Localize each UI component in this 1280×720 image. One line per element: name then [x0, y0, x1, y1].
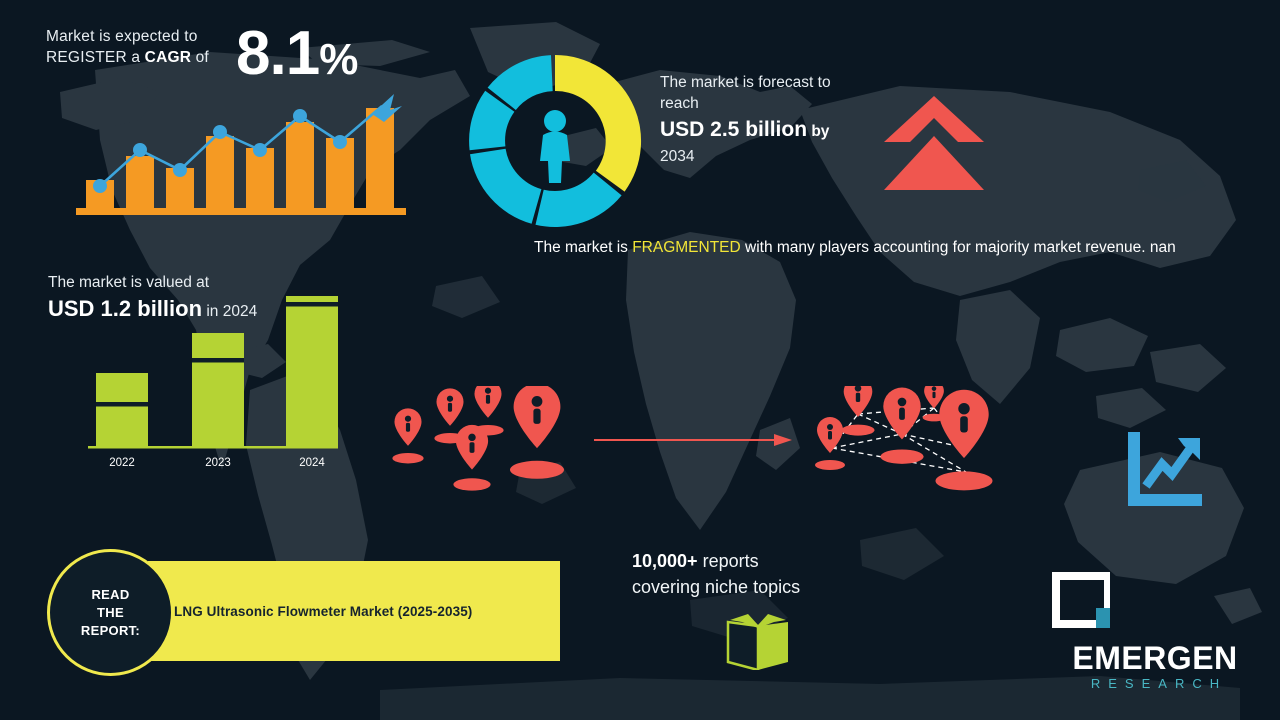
person-icon	[540, 110, 570, 183]
cagr-of-text: of	[191, 49, 209, 66]
logo-subtitle: RESEARCH	[1050, 675, 1260, 693]
fragmented-pre: The market is	[534, 239, 632, 256]
green-chart-baseline	[88, 446, 338, 449]
chart-baseline	[76, 208, 406, 215]
bar-2023	[192, 333, 244, 446]
fragmented-note: The market is FRAGMENTED with many playe…	[534, 236, 1206, 260]
xtick-2024: 2024	[299, 457, 325, 469]
read-report-line1: READ	[81, 586, 140, 604]
bar-2024	[286, 296, 338, 446]
open-book-icon	[722, 612, 794, 670]
bar-2023-divider	[192, 358, 244, 363]
bar-2024-divider	[286, 302, 338, 307]
reports-count-block: 10,000+ reports covering niche topics	[632, 548, 932, 600]
double-chevron-up-icon	[884, 96, 984, 190]
growth-chart-icon	[1122, 428, 1204, 510]
market-share-donut-chart	[466, 52, 644, 230]
forecast-line2: reach	[660, 93, 895, 114]
market-value-bar-chart: 2022 2023 2024	[80, 296, 345, 471]
cagr-caption-line1: Market is expected to	[46, 26, 236, 47]
donut-segment-c	[470, 149, 541, 224]
forecast-year: 2034	[660, 146, 895, 167]
read-report-line3: REPORT:	[81, 622, 140, 640]
reports-count: 10,000+	[632, 551, 698, 571]
forecast-value: USD 2.5 billion by	[660, 116, 895, 146]
cagr-caption: Market is expected to REGISTER a CAGR of	[46, 22, 236, 68]
fragmented-keyword: FRAGMENTED	[632, 239, 741, 256]
cagr-block: Market is expected to REGISTER a CAGR of…	[46, 22, 466, 92]
right-arrow-icon	[594, 432, 794, 448]
read-report-label: READ THE REPORT:	[81, 586, 140, 640]
cagr-percent-sign: %	[319, 35, 357, 84]
bar-2022-divider	[96, 402, 148, 407]
forecast-line1: The market is forecast to	[660, 72, 895, 93]
donut-segments	[469, 55, 641, 227]
forecast-by-word: by	[807, 123, 829, 140]
valued-caption: The market is valued at	[48, 272, 348, 294]
cagr-value: 8.1%	[236, 22, 357, 92]
forecast-amount: USD 2.5 billion	[660, 118, 807, 141]
reports-count-suffix: reports	[698, 551, 759, 571]
green-bars	[96, 296, 338, 446]
infographic-canvas: Market is expected to REGISTER a CAGR of…	[0, 0, 1280, 720]
read-the-report-badge[interactable]: READ THE REPORT:	[47, 549, 174, 676]
cagr-keyword: CAGR	[145, 49, 191, 66]
bar-2022	[96, 373, 148, 446]
report-title: LNG Ultrasonic Flowmeter Market (2025-20…	[174, 561, 472, 661]
reports-subline: covering niche topics	[632, 574, 932, 600]
cagr-register-text: REGISTER a	[46, 49, 145, 66]
xtick-2022: 2022	[109, 457, 135, 469]
cagr-caption-line2: REGISTER a CAGR of	[46, 47, 236, 68]
map-pin-cluster-left	[382, 386, 572, 496]
xtick-2023: 2023	[205, 457, 231, 469]
emergen-research-logo: EMERGEN RESEARCH	[1050, 570, 1260, 693]
read-report-line2: THE	[81, 604, 140, 622]
map-pin-person-icon	[392, 386, 564, 491]
logo-wordmark: EMERGEN	[1050, 641, 1260, 675]
cagr-number: 8.1	[236, 19, 319, 88]
fragmented-post: with many players accounting for majorit…	[741, 239, 1176, 256]
read-report-banner[interactable]: LNG Ultrasonic Flowmeter Market (2025-20…	[148, 561, 560, 661]
donut-segment-b	[536, 173, 622, 227]
donut-segment-a	[555, 55, 641, 192]
map-pin-person-icon	[815, 386, 993, 490]
square-bracket-icon	[1050, 570, 1112, 630]
growth-bar-line-chart	[72, 88, 412, 218]
forecast-block: The market is forecast to reach USD 2.5 …	[660, 72, 895, 167]
reports-count-line: 10,000+ reports	[632, 548, 932, 574]
map-pin-cluster-right	[806, 386, 1006, 504]
